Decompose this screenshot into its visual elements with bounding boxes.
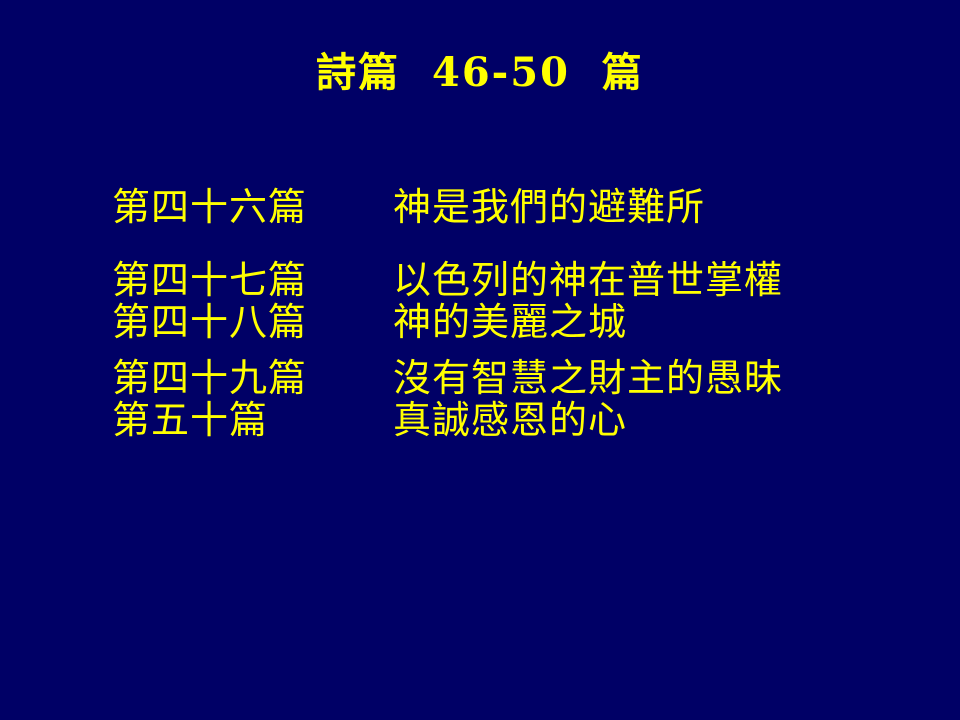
psalm-number: 第四十六篇	[112, 186, 393, 228]
psalm-number: 第四十八篇	[112, 301, 393, 343]
psalm-description: 神的美麗之城	[393, 301, 912, 343]
slide-title: 詩篇 46-50 篇	[0, 49, 960, 97]
list-item: 第四十六篇 神是我們的避難所	[112, 186, 912, 228]
list-item: 第四十八篇 神的美麗之城	[112, 301, 912, 343]
psalm-description: 以色列的神在普世掌權	[393, 259, 912, 301]
list-item: 第四十七篇 以色列的神在普世掌權	[112, 259, 912, 301]
psalm-description: 真誠感恩的心	[393, 399, 912, 441]
psalm-number: 第四十九篇	[112, 357, 393, 399]
psalm-number: 第五十篇	[112, 399, 393, 441]
psalm-list: 第四十六篇 神是我們的避難所 第四十七篇 以色列的神在普世掌權 第四十八篇 神的…	[112, 186, 912, 441]
psalm-number: 第四十七篇	[112, 259, 393, 301]
list-item: 第五十篇 真誠感恩的心	[112, 399, 912, 441]
list-item: 第四十九篇 沒有智慧之財主的愚昧	[112, 357, 912, 399]
psalm-description: 神是我們的避難所	[393, 186, 912, 228]
psalm-description: 沒有智慧之財主的愚昧	[393, 357, 912, 399]
presentation-slide: 詩篇 46-50 篇 第四十六篇 神是我們的避難所 第四十七篇 以色列的神在普世…	[0, 0, 960, 720]
